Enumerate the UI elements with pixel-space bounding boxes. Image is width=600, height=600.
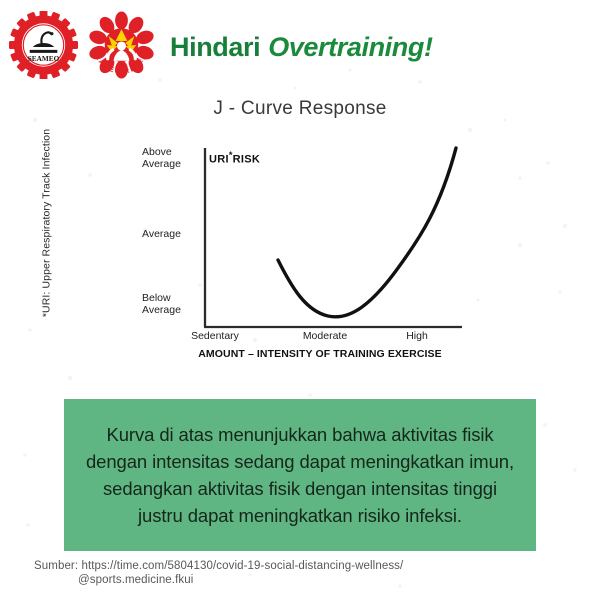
x-tick-sedentary: Sedentary xyxy=(180,330,250,342)
poster-header: SEAMEO xyxy=(0,0,600,92)
seameo-recfon-logo: SEAMEO RECFON xyxy=(85,10,158,80)
page-title-part1: Hindari xyxy=(170,32,260,63)
logo-row: SEAMEO xyxy=(8,10,158,80)
x-axis-label: AMOUNT – INTENSITY OF TRAINING EXERCISE xyxy=(170,348,470,360)
x-tick-high: High xyxy=(382,330,452,342)
j-curve-path xyxy=(278,148,456,317)
poster-canvas: SEAMEO xyxy=(0,0,600,600)
svg-text:SEAMEO: SEAMEO xyxy=(28,55,60,63)
seameo-logo: SEAMEO xyxy=(8,11,79,79)
callout-text: Kurva di atas menunjukkan bahwa aktivita… xyxy=(82,421,518,529)
page-title-part2: Overtraining! xyxy=(268,32,432,63)
source-url: Sumber: https://time.com/5804130/covid-1… xyxy=(34,560,554,572)
footer: Sumber: https://time.com/5804130/covid-1… xyxy=(34,560,554,586)
social-handle: @sports.medicine.fkui xyxy=(78,574,554,586)
callout-box: Kurva di atas menunjukkan bahwa aktivita… xyxy=(64,399,536,551)
j-curve-chart: J - Curve Response *URI: Upper Respirato… xyxy=(0,92,600,372)
page-title: Hindari Overtraining! xyxy=(170,24,490,70)
x-tick-moderate: Moderate xyxy=(290,330,360,342)
